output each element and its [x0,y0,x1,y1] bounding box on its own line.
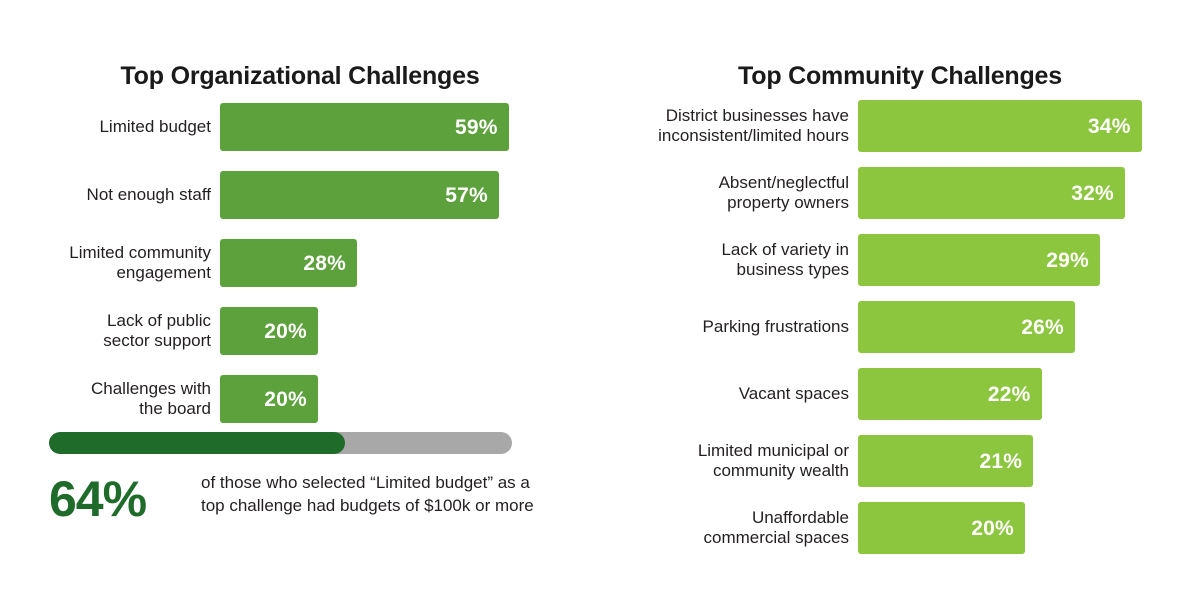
bar-value-label: 26% [1021,317,1064,338]
chart-row: Absent/neglectful property owners32% [600,167,1200,219]
chart-row: Challenges with the board20% [0,375,600,423]
bar-track: 21% [858,435,1200,487]
chart-row: Limited community engagement28% [0,239,600,287]
bar: 32% [858,167,1125,219]
bar-category-label: Vacant spaces [600,384,858,404]
bar-category-label: Lack of variety in business types [600,240,858,280]
bar-value-label: 57% [445,185,488,206]
chart-row: Limited budget59% [0,103,600,151]
bar-value-label: 20% [264,321,307,342]
chart-row: Unaffordable commercial spaces20% [600,502,1200,554]
bar-category-label: Lack of public sector support [0,311,220,351]
bar-value-label: 29% [1046,250,1089,271]
bar-value-label: 21% [980,451,1023,472]
bar-value-label: 32% [1071,183,1114,204]
bar-track: 57% [220,171,600,219]
progress-track [49,432,512,454]
callout-description: of those who selected “Limited budget” a… [201,468,549,517]
bar-value-label: 59% [455,117,498,138]
bar: 21% [858,435,1033,487]
chart-row: District businesses have inconsistent/li… [600,100,1200,152]
bar-value-label: 22% [988,384,1031,405]
bar-track: 20% [220,307,600,355]
bar: 20% [858,502,1025,554]
bar-track: 34% [858,100,1200,152]
bar: 29% [858,234,1100,286]
chart-row: Lack of public sector support20% [0,307,600,355]
bar-track: 29% [858,234,1200,286]
chart-row: Limited municipal or community wealth21% [600,435,1200,487]
bar-value-label: 20% [971,518,1014,539]
bar-category-label: Limited municipal or community wealth [600,441,858,481]
bar-value-label: 20% [264,389,307,410]
bar: 59% [220,103,509,151]
bar-category-label: Not enough staff [0,185,220,205]
community-challenges-panel: Top Community Challenges District busine… [600,0,1200,600]
bar-track: 32% [858,167,1200,219]
page-title-community: Top Community Challenges [600,64,1200,89]
budget-progress-bar [49,432,512,454]
bar-category-label: Limited community engagement [0,243,220,283]
bar: 22% [858,368,1042,420]
bar-track: 26% [858,301,1200,353]
bar-value-label: 28% [303,253,346,274]
bar-category-label: Parking frustrations [600,317,858,337]
bar-category-label: Limited budget [0,117,220,137]
bar-category-label: District businesses have inconsistent/li… [600,106,858,146]
bar-category-label: Challenges with the board [0,379,220,419]
bar: 20% [220,375,318,423]
bar-value-label: 34% [1088,116,1131,137]
chart-row: Not enough staff57% [0,171,600,219]
bar-track: 20% [858,502,1200,554]
chart-row: Parking frustrations26% [600,301,1200,353]
bar-track: 59% [220,103,600,151]
bar-track: 20% [220,375,600,423]
bar-category-label: Unaffordable commercial spaces [600,508,858,548]
bar: 20% [220,307,318,355]
bar-track: 22% [858,368,1200,420]
bar: 57% [220,171,499,219]
bar: 34% [858,100,1142,152]
bar-chart-community: District businesses have inconsistent/li… [600,100,1200,569]
bar-chart-organizational: Limited budget59%Not enough staff57%Limi… [0,103,600,443]
bar: 28% [220,239,357,287]
organizational-challenges-panel: Top Organizational Challenges Limited bu… [0,0,600,600]
bar-category-label: Absent/neglectful property owners [600,173,858,213]
bar: 26% [858,301,1075,353]
bar-track: 28% [220,239,600,287]
callout-figure: 64% [49,468,201,524]
progress-fill [49,432,345,454]
page-title-organizational: Top Organizational Challenges [0,64,600,89]
chart-row: Vacant spaces22% [600,368,1200,420]
chart-row: Lack of variety in business types29% [600,234,1200,286]
budget-callout: 64% of those who selected “Limited budge… [49,468,549,524]
